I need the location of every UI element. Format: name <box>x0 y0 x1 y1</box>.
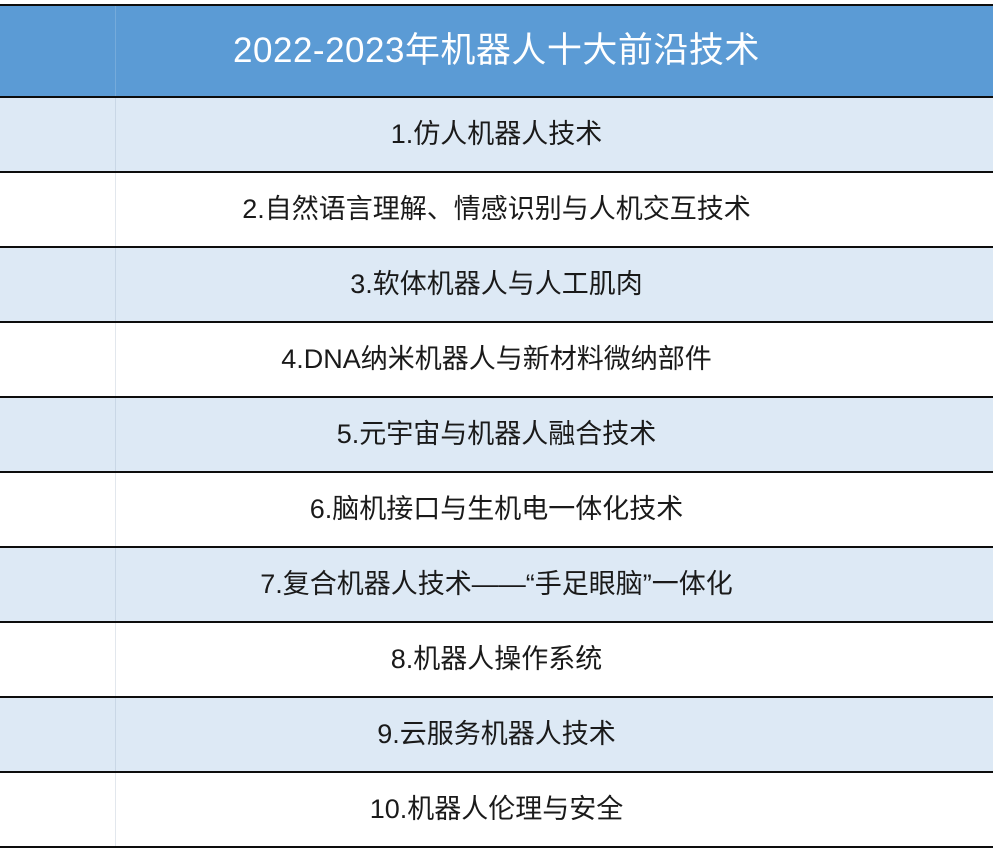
technology-label: 1.仿人机器人技术 <box>391 119 603 149</box>
technology-cell: 3.软体机器人与人工肌肉 <box>0 247 993 322</box>
technology-label: 2.自然语言理解、情感识别与人机交互技术 <box>242 194 751 224</box>
tech-table-container: 2022-2023年机器人十大前沿技术 1.仿人机器人技术2.自然语言理解、情感… <box>0 4 993 848</box>
table-title-cell: 2022-2023年机器人十大前沿技术 <box>0 5 993 97</box>
technology-cell: 1.仿人机器人技术 <box>0 97 993 172</box>
table-body: 1.仿人机器人技术2.自然语言理解、情感识别与人机交互技术3.软体机器人与人工肌… <box>0 97 993 847</box>
table-header-row: 2022-2023年机器人十大前沿技术 <box>0 5 993 97</box>
technology-cell: 6.脑机接口与生机电一体化技术 <box>0 472 993 547</box>
table-row: 10.机器人伦理与安全 <box>0 772 993 847</box>
technology-label: 10.机器人伦理与安全 <box>370 794 624 824</box>
technology-cell: 5.元宇宙与机器人融合技术 <box>0 397 993 472</box>
table-row: 8.机器人操作系统 <box>0 622 993 697</box>
technology-label: 7.复合机器人技术——“手足眼脑”一体化 <box>260 569 733 599</box>
table-row: 2.自然语言理解、情感识别与人机交互技术 <box>0 172 993 247</box>
technology-cell: 7.复合机器人技术——“手足眼脑”一体化 <box>0 547 993 622</box>
table-row: 1.仿人机器人技术 <box>0 97 993 172</box>
table-row: 6.脑机接口与生机电一体化技术 <box>0 472 993 547</box>
top-ten-technologies-table: 2022-2023年机器人十大前沿技术 1.仿人机器人技术2.自然语言理解、情感… <box>0 4 993 848</box>
page-title: 2022-2023年机器人十大前沿技术 <box>233 31 760 70</box>
technology-cell: 9.云服务机器人技术 <box>0 697 993 772</box>
table-row: 7.复合机器人技术——“手足眼脑”一体化 <box>0 547 993 622</box>
technology-label: 8.机器人操作系统 <box>391 644 603 674</box>
technology-cell: 2.自然语言理解、情感识别与人机交互技术 <box>0 172 993 247</box>
technology-cell: 4.DNA纳米机器人与新材料微纳部件 <box>0 322 993 397</box>
technology-label: 4.DNA纳米机器人与新材料微纳部件 <box>281 344 712 374</box>
table-row: 5.元宇宙与机器人融合技术 <box>0 397 993 472</box>
table-row: 9.云服务机器人技术 <box>0 697 993 772</box>
table-header: 2022-2023年机器人十大前沿技术 <box>0 5 993 97</box>
technology-label: 9.云服务机器人技术 <box>377 719 616 749</box>
technology-label: 6.脑机接口与生机电一体化技术 <box>310 494 684 524</box>
technology-label: 3.软体机器人与人工肌肉 <box>350 269 643 299</box>
table-row: 3.软体机器人与人工肌肉 <box>0 247 993 322</box>
table-row: 4.DNA纳米机器人与新材料微纳部件 <box>0 322 993 397</box>
technology-label: 5.元宇宙与机器人融合技术 <box>337 419 657 449</box>
technology-cell: 10.机器人伦理与安全 <box>0 772 993 847</box>
technology-cell: 8.机器人操作系统 <box>0 622 993 697</box>
